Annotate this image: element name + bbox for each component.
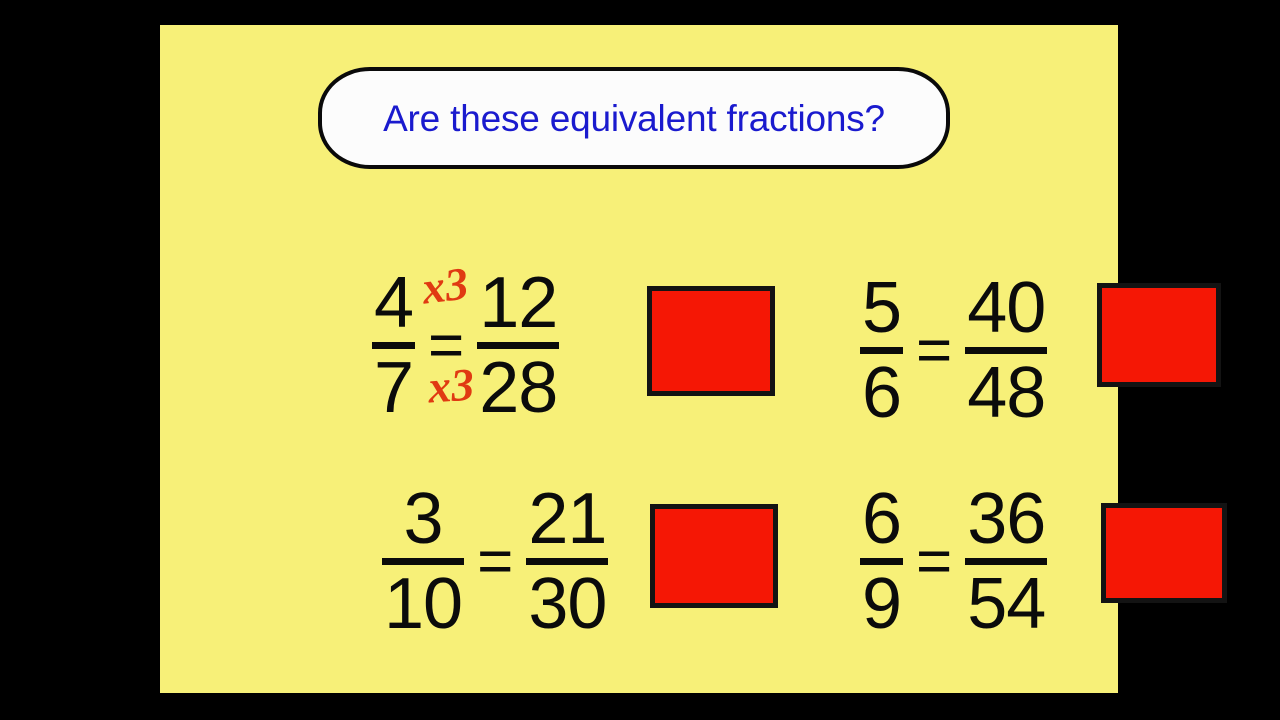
problem-4-answer-box[interactable] [1101, 503, 1227, 603]
problem-3-equals-sign: = [477, 531, 513, 593]
problem-4-right-fraction: 36 54 [965, 484, 1047, 639]
problem-4-left-fraction: 6 9 [860, 484, 903, 639]
title-callout-box: Are these equivalent fractions? [318, 67, 950, 169]
problem-3-right-denominator: 30 [526, 569, 608, 640]
slide-stage: Are these equivalent fractions? 4 7 = 12… [0, 0, 1280, 720]
problem-2-answer-box[interactable] [1097, 283, 1221, 387]
problem-1-right-fraction: 12 28 [477, 268, 559, 423]
problem-4-right-numerator: 36 [965, 484, 1047, 555]
problem-4-right-denominator: 54 [965, 569, 1047, 640]
problem-1-left-denominator: 7 [372, 353, 415, 424]
problem-3-right-fraction: 21 30 [526, 484, 608, 639]
problem-1-multiplier-top-annotation: x3 [419, 260, 470, 311]
problem-4-left-numerator: 6 [860, 484, 903, 555]
problem-3-right-numerator: 21 [526, 484, 608, 555]
problem-3-left-fraction: 3 10 [382, 484, 464, 639]
problem-4-left-denominator: 9 [860, 569, 903, 640]
problem-2-left-denominator: 6 [860, 358, 903, 429]
problem-1-left-numerator: 4 [372, 268, 415, 339]
problem-2-equals-sign: = [916, 320, 952, 382]
slide-title: Are these equivalent fractions? [383, 100, 885, 137]
worksheet-panel: Are these equivalent fractions? 4 7 = 12… [160, 25, 1118, 693]
problem-2-left-fraction: 5 6 [860, 273, 903, 428]
problem-1-right-numerator: 12 [477, 268, 559, 339]
problem-2: 5 6 = 40 48 [860, 273, 1047, 428]
problem-2-right-fraction: 40 48 [965, 273, 1047, 428]
problem-1-answer-box[interactable] [647, 286, 775, 396]
problem-2-right-numerator: 40 [965, 273, 1047, 344]
problem-3-left-denominator: 10 [382, 569, 464, 640]
problem-3: 3 10 = 21 30 [382, 484, 608, 639]
problem-3-answer-box[interactable] [650, 504, 778, 608]
problem-1-multiplier-bottom-annotation: x3 [426, 361, 475, 410]
problem-1-right-denominator: 28 [477, 353, 559, 424]
problem-4: 6 9 = 36 54 [860, 484, 1047, 639]
problem-2-left-numerator: 5 [860, 273, 903, 344]
problem-4-equals-sign: = [916, 531, 952, 593]
problem-3-left-numerator: 3 [402, 484, 445, 555]
problem-1-left-fraction: 4 7 [372, 268, 415, 423]
problem-2-right-denominator: 48 [965, 358, 1047, 429]
